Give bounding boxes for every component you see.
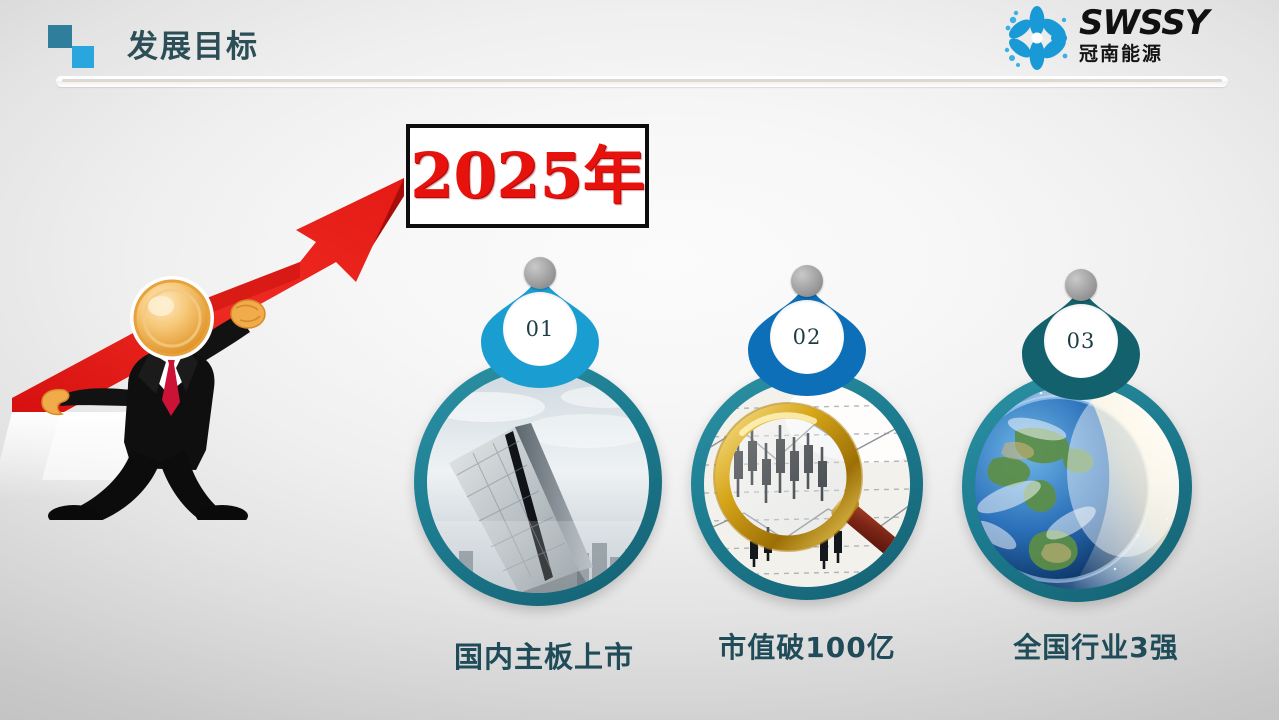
goal-2-number: 02 [793,325,822,349]
goal-3-number-badge: 03 [1044,304,1118,378]
year-badge: 2025年 [406,124,649,228]
year-badge-text: 2025年 [410,145,645,207]
goal-3-number: 03 [1067,329,1096,353]
header-divider [56,76,1228,87]
goal-1-pin[interactable]: 01 [481,260,603,388]
logo-wordmark: SWSSY [1079,6,1259,40]
goal-3-pin[interactable]: 03 [1022,272,1144,400]
magnifying-glass-stock-chart-photo [704,381,910,587]
goal-2-number-badge: 02 [770,300,844,374]
goal-3-pin-ball-icon [1065,269,1097,301]
page-title: 发展目标 [127,21,259,66]
goal-1-label: 国内主板上市 [414,634,674,676]
goal-2-label: 市值破100亿 [677,626,937,666]
blue-petal-flower-emblem-icon [1003,6,1071,70]
slide-root: 发展目标 [0,0,1279,720]
goal-2-pin[interactable]: 02 [748,268,870,396]
header-square-dark-icon [48,25,72,48]
company-logo: SWSSY 冠南能源 [1003,4,1263,72]
skyscraper-blueprint-photo [427,371,649,593]
businessman-on-rising-red-arrow-illustration [0,150,420,520]
goal-1-number-badge: 01 [503,292,577,366]
logo-text-block: SWSSY 冠南能源 [1079,6,1259,65]
header-square-light-icon [72,46,94,68]
goal-2-ring [691,368,923,600]
header-square-decoration [48,25,106,69]
goal-1-number: 01 [526,317,555,341]
goal-3-label: 全国行业3强 [966,626,1226,666]
goal-1-ring [414,358,662,606]
goal-3-ring [962,372,1192,602]
earth-from-space-photo [975,385,1179,589]
logo-subtitle: 冠南能源 [1079,43,1259,65]
goal-1-pin-ball-icon [524,257,556,289]
goal-2-pin-ball-icon [791,265,823,297]
